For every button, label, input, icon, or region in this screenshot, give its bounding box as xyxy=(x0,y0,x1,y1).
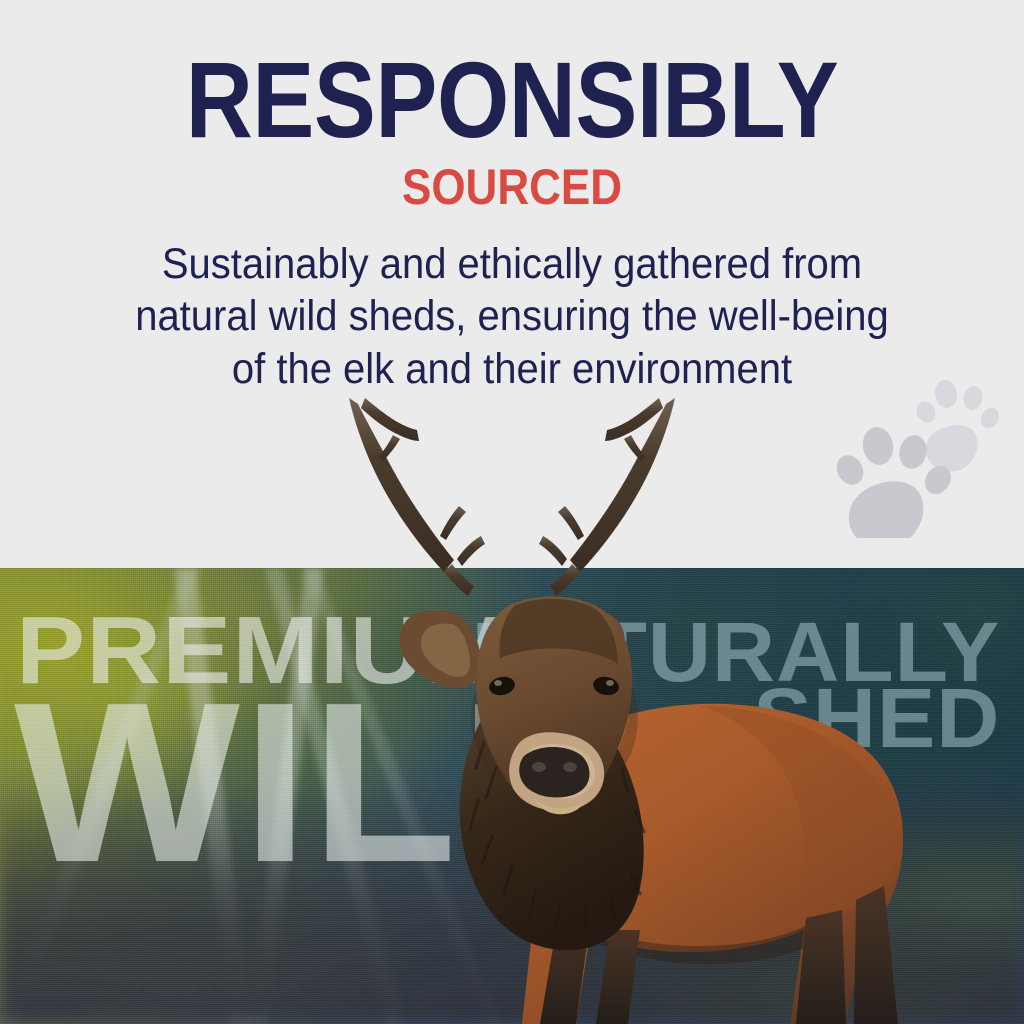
description-text: Sustainably and ethically gathered from … xyxy=(66,238,959,395)
page-title: RESPONSIBLY xyxy=(72,46,953,154)
page-subtitle: SOURCED xyxy=(61,162,962,212)
description-line-3: of the elk and their environment xyxy=(66,343,959,395)
header-panel: RESPONSIBLY SOURCED Sustainably and ethi… xyxy=(0,0,1024,568)
forest-photo xyxy=(0,568,1024,1024)
description-line-2: natural wild sheds, ensuring the well-be… xyxy=(66,290,959,342)
film-grain-layer xyxy=(0,568,1024,1024)
promo-poster: PREMIUM WILD NATURALLY SHED RESPONSIBLY … xyxy=(0,0,1024,1024)
description-line-1: Sustainably and ethically gathered from xyxy=(66,238,959,290)
